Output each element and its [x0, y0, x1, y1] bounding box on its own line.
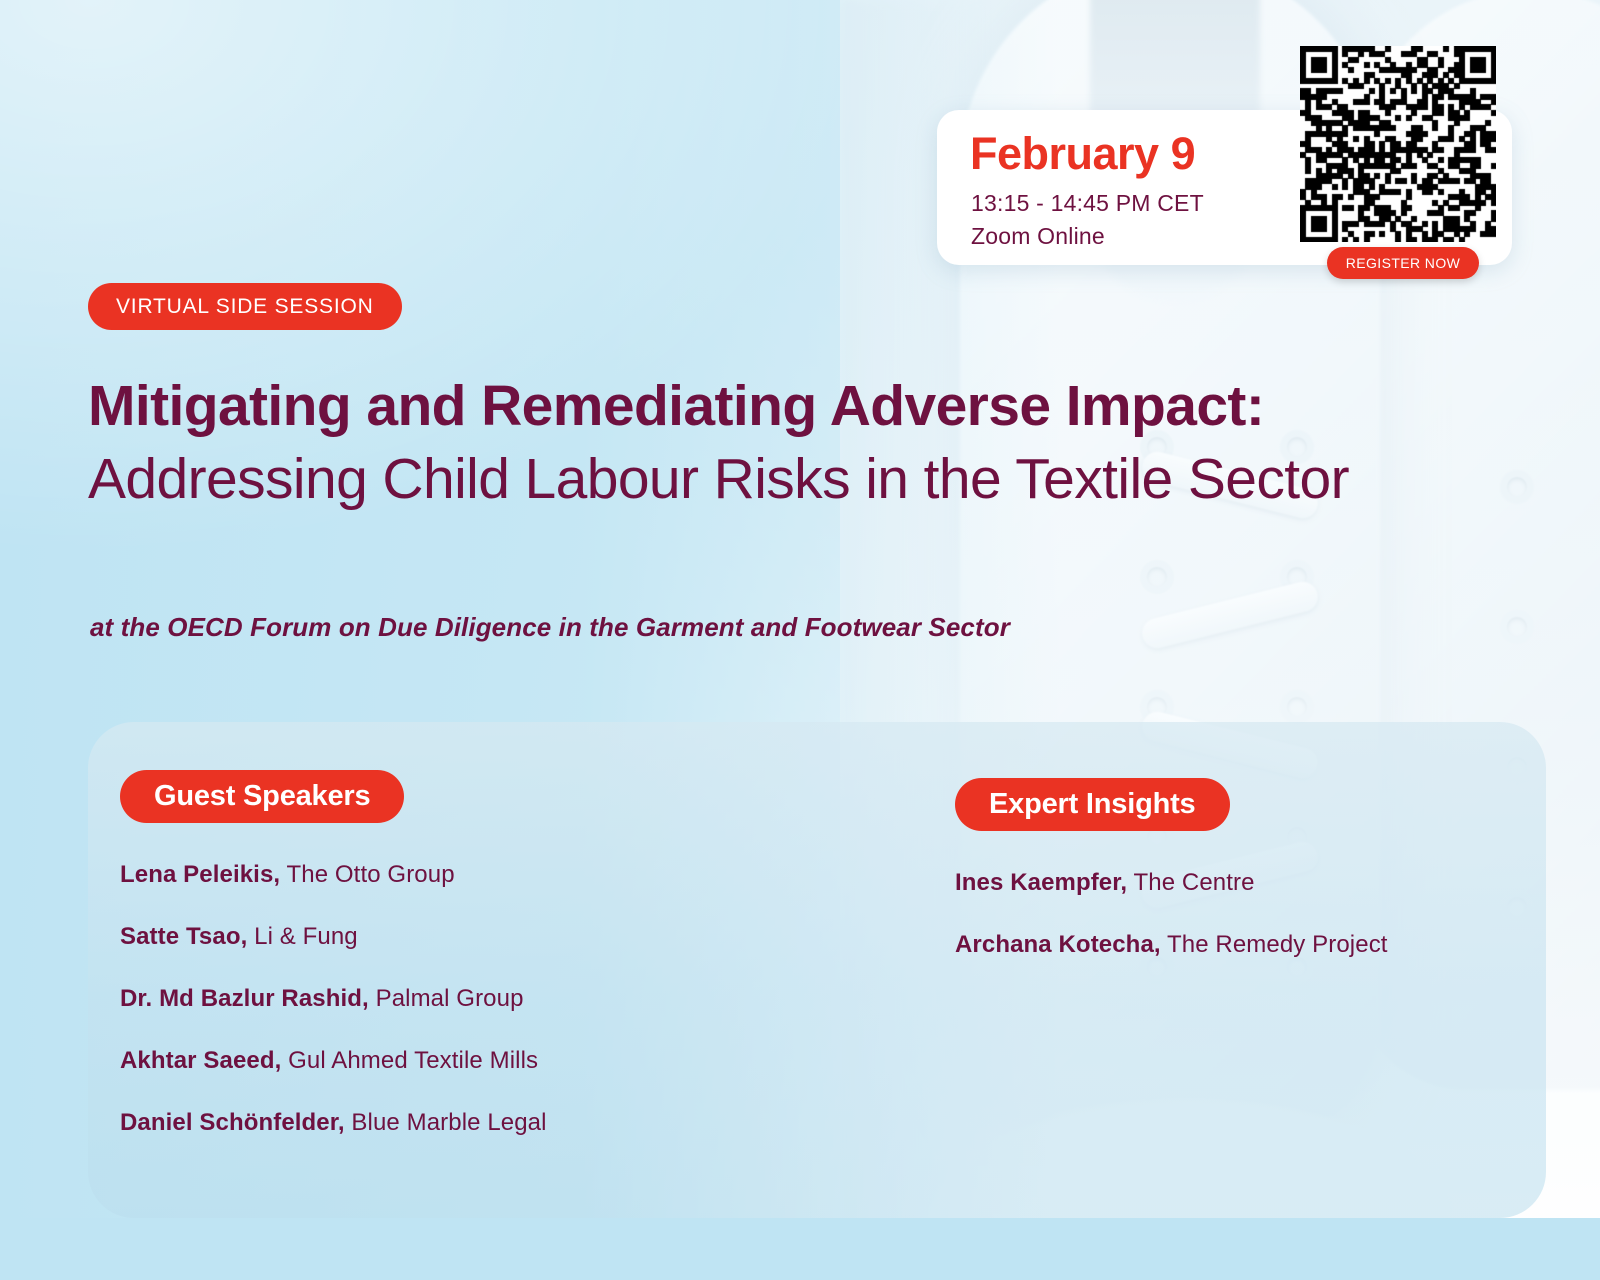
- guest-speakers-column: Guest Speakers Lena Peleikis, The Otto G…: [120, 770, 820, 1171]
- page-subtitle: at the OECD Forum on Due Diligence in th…: [90, 612, 1010, 643]
- person-name: Lena Peleikis,: [120, 861, 280, 888]
- person-affiliation: The Otto Group: [280, 861, 454, 888]
- person-name: Daniel Schönfelder,: [120, 1109, 345, 1136]
- person-affiliation: Palmal Group: [369, 985, 524, 1012]
- list-item: Akhtar Saeed, Gul Ahmed Textile Mills: [120, 1047, 820, 1075]
- person-name: Ines Kaempfer,: [955, 869, 1127, 896]
- page-title: Mitigating and Remediating Adverse Impac…: [88, 370, 1438, 516]
- person-name: Akhtar Saeed,: [120, 1047, 281, 1074]
- guest-speakers-list: Lena Peleikis, The Otto GroupSatte Tsao,…: [120, 861, 820, 1137]
- list-item: Daniel Schönfelder, Blue Marble Legal: [120, 1109, 820, 1137]
- list-item: Satte Tsao, Li & Fung: [120, 923, 820, 951]
- person-affiliation: Gul Ahmed Textile Mills: [281, 1047, 538, 1074]
- event-platform: Zoom Online: [971, 223, 1105, 250]
- virtual-side-session-badge: VIRTUAL SIDE SESSION: [88, 283, 402, 330]
- person-affiliation: Blue Marble Legal: [345, 1109, 547, 1136]
- list-item: Ines Kaempfer, The Centre: [955, 869, 1555, 897]
- event-time: 13:15 - 14:45 PM CET: [971, 190, 1204, 217]
- person-name: Archana Kotecha,: [955, 931, 1161, 958]
- expert-insights-list: Ines Kaempfer, The CentreArchana Kotecha…: [955, 869, 1555, 959]
- expert-insights-heading: Expert Insights: [955, 778, 1230, 831]
- list-item: Archana Kotecha, The Remedy Project: [955, 931, 1555, 959]
- person-affiliation: The Remedy Project: [1161, 931, 1388, 958]
- person-affiliation: Li & Fung: [247, 923, 357, 950]
- expert-insights-column: Expert Insights Ines Kaempfer, The Centr…: [955, 778, 1555, 993]
- list-item: Lena Peleikis, The Otto Group: [120, 861, 820, 889]
- qr-code-icon[interactable]: [1300, 46, 1496, 242]
- guest-speakers-heading: Guest Speakers: [120, 770, 404, 823]
- person-name: Dr. Md Bazlur Rashid,: [120, 985, 369, 1012]
- list-item: Dr. Md Bazlur Rashid, Palmal Group: [120, 985, 820, 1013]
- event-date: February 9: [970, 128, 1195, 180]
- title-regular-part: Addressing Child Labour Risks in the Tex…: [88, 447, 1349, 511]
- register-now-button[interactable]: REGISTER NOW: [1327, 247, 1479, 279]
- title-bold-part: Mitigating and Remediating Adverse Impac…: [88, 374, 1264, 438]
- person-name: Satte Tsao,: [120, 923, 247, 950]
- person-affiliation: The Centre: [1127, 869, 1254, 896]
- bottom-band: [0, 1218, 1600, 1280]
